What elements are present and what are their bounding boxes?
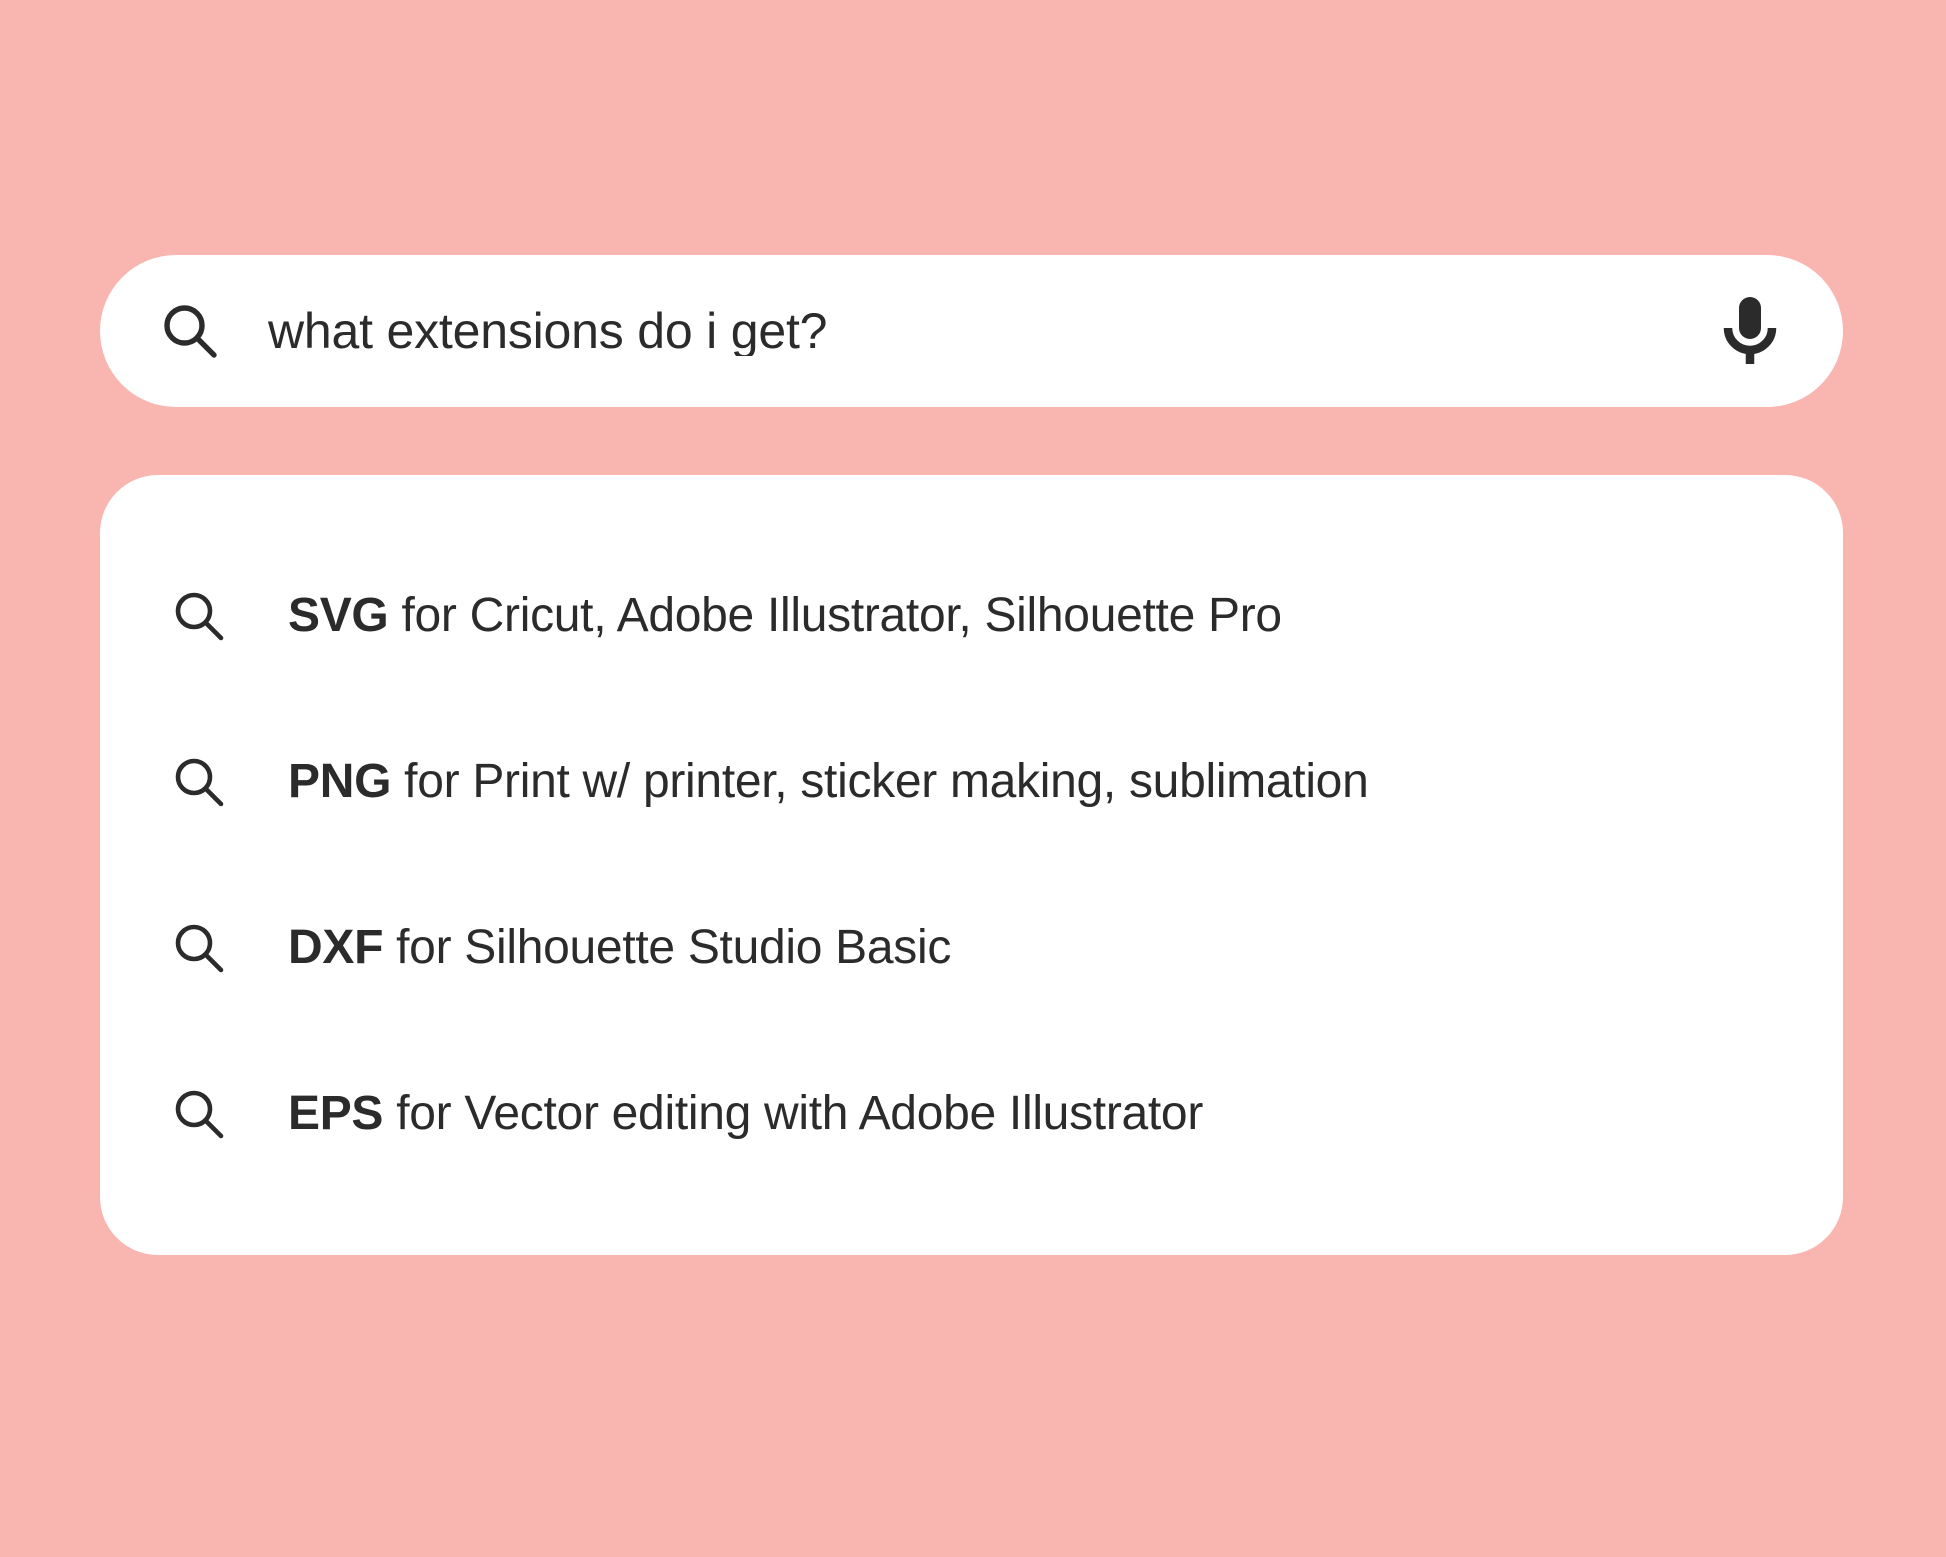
- suggestion-text: PNG for Print w/ printer, sticker making…: [288, 757, 1368, 807]
- format-code: EPS: [288, 1087, 383, 1140]
- page-background: what extensions do i get? SVG for Cricut…: [0, 0, 1946, 1557]
- microphone-icon[interactable]: [1719, 295, 1781, 367]
- search-icon: [172, 921, 226, 975]
- search-icon: [172, 1087, 226, 1141]
- suggestion-text: EPS for Vector editing with Adobe Illust…: [288, 1089, 1203, 1139]
- format-description: for Vector editing with Adobe Illustrato…: [383, 1087, 1203, 1140]
- format-description: for Print w/ printer, sticker making, su…: [391, 755, 1368, 808]
- suggestion-text: SVG for Cricut, Adobe Illustrator, Silho…: [288, 591, 1282, 641]
- search-input[interactable]: what extensions do i get?: [268, 306, 1719, 356]
- search-icon: [172, 755, 226, 809]
- format-code: DXF: [288, 921, 383, 974]
- search-bar[interactable]: what extensions do i get?: [100, 255, 1843, 407]
- format-code: SVG: [288, 589, 388, 642]
- suggestion-row-dxf[interactable]: DXF for Silhouette Studio Basic: [100, 888, 1843, 1008]
- format-description: for Cricut, Adobe Illustrator, Silhouett…: [388, 589, 1281, 642]
- suggestion-row-svg[interactable]: SVG for Cricut, Adobe Illustrator, Silho…: [100, 556, 1843, 676]
- suggestion-row-png[interactable]: PNG for Print w/ printer, sticker making…: [100, 722, 1843, 842]
- search-icon: [160, 301, 220, 361]
- suggestions-card: SVG for Cricut, Adobe Illustrator, Silho…: [100, 475, 1843, 1255]
- format-description: for Silhouette Studio Basic: [383, 921, 951, 974]
- search-icon: [172, 589, 226, 643]
- suggestion-text: DXF for Silhouette Studio Basic: [288, 923, 951, 973]
- format-code: PNG: [288, 755, 391, 808]
- suggestion-row-eps[interactable]: EPS for Vector editing with Adobe Illust…: [100, 1054, 1843, 1174]
